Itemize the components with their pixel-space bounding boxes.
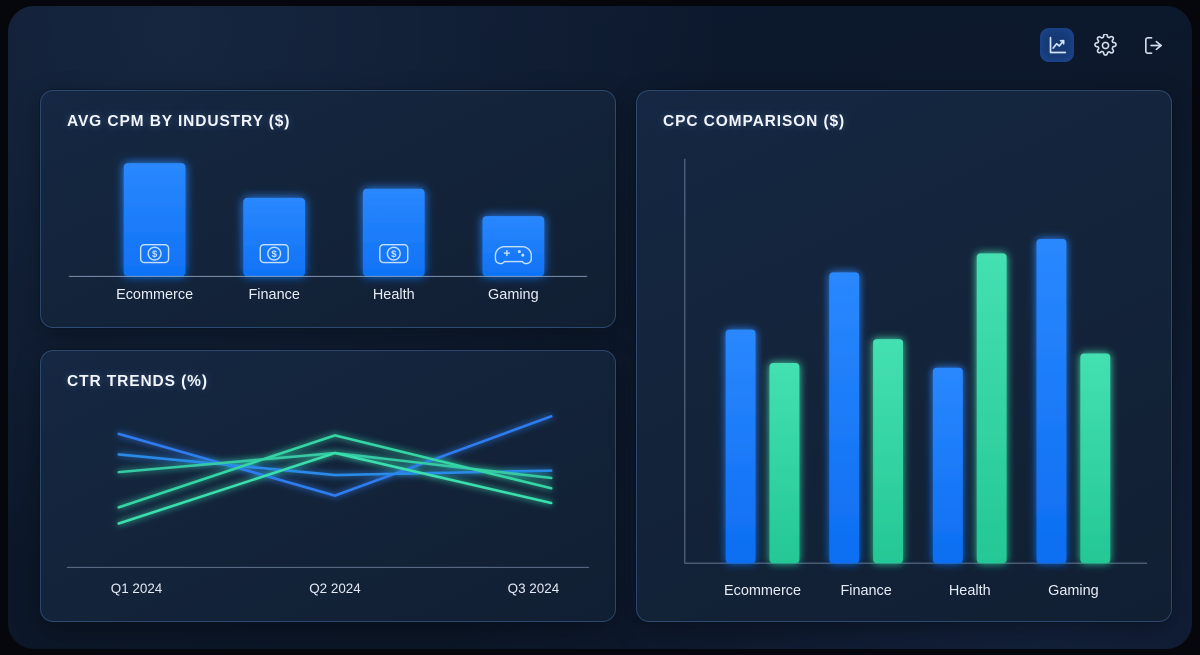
bar[interactable] [933, 368, 963, 563]
bar[interactable] [243, 198, 305, 277]
x-axis-tick-label: Q1 2024 [111, 581, 163, 596]
card-cpc-comparison: CPC COMPARISON ($) [636, 90, 1172, 622]
line-series[interactable] [119, 453, 551, 523]
svg-text:$: $ [391, 249, 397, 260]
x-axis-tick-label: Gaming [1048, 583, 1099, 599]
analytics-icon [1047, 35, 1068, 56]
bar[interactable] [363, 189, 425, 277]
line-series[interactable] [119, 416, 551, 495]
chart-cpc-comparison: EcommerceFinanceHealthGaming [637, 91, 1171, 621]
x-axis-tick-label: Ecommerce [116, 287, 193, 303]
x-axis-tick-label: Health [949, 583, 991, 599]
x-axis-tick-label: Finance [248, 287, 299, 303]
x-axis-tick-label: Finance [840, 583, 891, 599]
x-axis-tick-label: Gaming [488, 287, 539, 303]
x-axis-tick-label: Q3 2024 [508, 581, 560, 596]
app-frame: AVG CPM BY INDUSTRY ($) $$$ EcommerceFin [8, 6, 1192, 649]
chart-ctr-trends: Q1 2024Q2 2024Q3 2024 [41, 351, 615, 621]
card-ctr-trends: CTR TRENDS (%) Q1 2024Q2 2024Q3 2024 [40, 350, 616, 622]
bar[interactable] [770, 363, 800, 563]
toolbar [1040, 28, 1170, 62]
chart-avg-cpm: $$$ EcommerceFinanceHealthGaming [41, 91, 615, 327]
cpm-bar-chart: $$$ EcommerceFinanceHealthGaming [41, 91, 615, 327]
bar[interactable] [977, 253, 1007, 563]
card-avg-cpm: AVG CPM BY INDUSTRY ($) $$$ EcommerceFin [40, 90, 616, 328]
bar[interactable] [1080, 353, 1110, 563]
bar[interactable] [873, 339, 903, 563]
settings-button[interactable] [1088, 28, 1122, 62]
bar[interactable] [829, 272, 859, 563]
x-axis-tick-label: Health [373, 287, 415, 303]
logout-icon [1142, 34, 1165, 57]
svg-text:$: $ [272, 249, 278, 260]
gear-icon [1094, 34, 1117, 57]
x-axis-tick-label: Ecommerce [724, 583, 801, 599]
svg-text:$: $ [152, 249, 158, 260]
x-axis-tick-label: Q2 2024 [309, 581, 361, 596]
bar[interactable] [726, 330, 756, 564]
analytics-icon-button[interactable] [1040, 28, 1074, 62]
bar[interactable] [1037, 239, 1067, 563]
cpc-bar-chart: EcommerceFinanceHealthGaming [637, 91, 1171, 621]
ctr-line-chart: Q1 2024Q2 2024Q3 2024 [41, 351, 615, 621]
logout-button[interactable] [1136, 28, 1170, 62]
